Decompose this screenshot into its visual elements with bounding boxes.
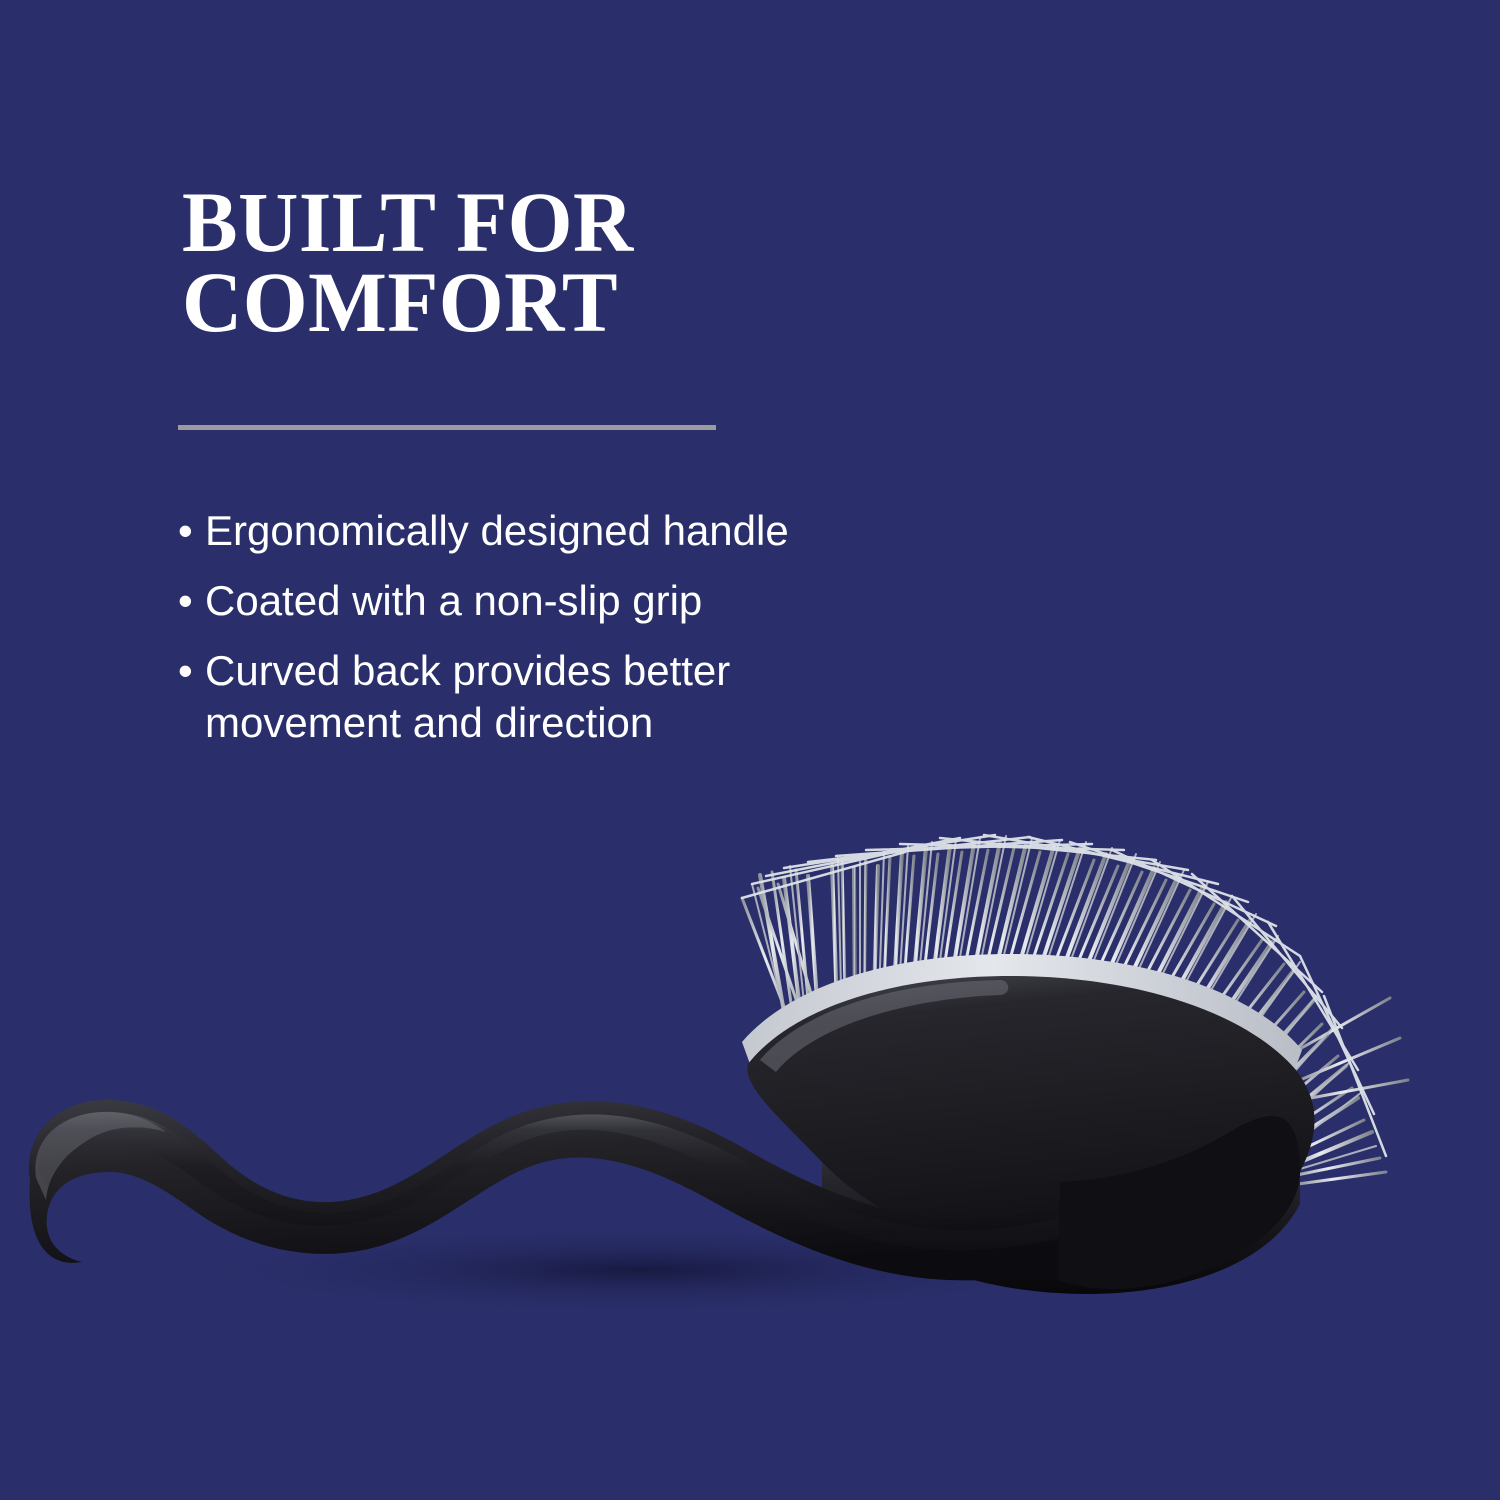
bullet-icon: • [178,575,205,627]
list-item: • Curved back provides better movement a… [178,645,878,749]
brush-illustration [0,780,1500,1340]
list-item: • Ergonomically designed handle [178,505,878,557]
bullet-icon: • [178,505,205,557]
hair-brush-photo [0,780,1500,1340]
bullet-icon: • [178,645,205,697]
page-title: BUILT FOR COMFORT [182,182,919,342]
list-item-label: Curved back provides better movement and… [205,645,878,749]
list-item: • Coated with a non-slip grip [178,575,878,627]
list-item-label: Coated with a non-slip grip [205,575,878,627]
product-feature-banner: BUILT FOR COMFORT • Ergonomically design… [0,0,1500,1500]
list-item-label: Ergonomically designed handle [205,505,878,557]
title-divider [178,425,716,430]
feature-list: • Ergonomically designed handle • Coated… [178,505,878,767]
